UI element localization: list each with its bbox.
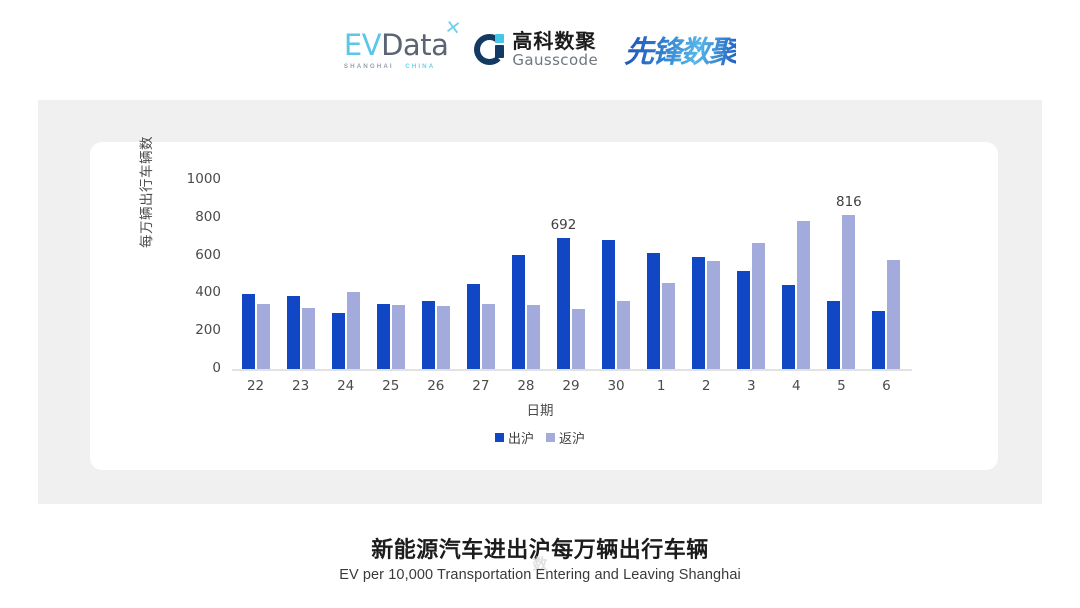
bar-back bbox=[617, 301, 630, 369]
bar-back bbox=[797, 221, 810, 369]
bar-group bbox=[684, 180, 729, 369]
x-axis-tick-label: 27 bbox=[459, 378, 503, 394]
x-axis-tick-label: 2 bbox=[684, 378, 728, 394]
bar-back bbox=[707, 261, 720, 369]
x-axis-tick-label: 30 bbox=[594, 378, 638, 394]
bar-group bbox=[278, 180, 323, 369]
bar-out bbox=[602, 240, 615, 369]
bar-back bbox=[437, 306, 450, 369]
y-axis-title: 每万辆出行车辆数 bbox=[135, 127, 155, 257]
legend-item[interactable]: 返沪 bbox=[546, 428, 585, 447]
legend-item[interactable]: 出沪 bbox=[495, 428, 534, 447]
x-axis-tick-label: 29 bbox=[549, 378, 593, 394]
bar-out bbox=[242, 294, 255, 369]
x-axis-tick-label: 24 bbox=[324, 378, 368, 394]
bar-group bbox=[864, 180, 909, 369]
x-axis-tick-label: 22 bbox=[234, 378, 278, 394]
y-axis-tick-label: 1000 bbox=[175, 171, 221, 187]
bar-group bbox=[323, 180, 368, 369]
bar-back bbox=[662, 283, 675, 369]
bar-group: 816 bbox=[819, 180, 864, 369]
bar-out bbox=[332, 313, 345, 369]
bar-back bbox=[887, 260, 900, 369]
bar-group bbox=[503, 180, 548, 369]
bar-out bbox=[422, 301, 435, 369]
y-axis-tick-label: 800 bbox=[175, 209, 221, 225]
bar-out bbox=[647, 253, 660, 369]
bar-out bbox=[827, 301, 840, 369]
bar-back bbox=[392, 305, 405, 369]
bar-group bbox=[413, 180, 458, 369]
legend-label: 出沪 bbox=[508, 428, 534, 447]
bar-group: 692 bbox=[548, 180, 593, 369]
bar-value-label: 692 bbox=[551, 217, 577, 233]
bar-back bbox=[752, 243, 765, 369]
bar-out bbox=[467, 284, 480, 369]
x-axis-tick-label: 5 bbox=[819, 378, 863, 394]
bar-value-label: 816 bbox=[836, 194, 862, 210]
y-axis-tick-label: 600 bbox=[175, 247, 221, 263]
bar-chart: 每万辆出行车辆数 02004006008001000 692816 222324… bbox=[0, 0, 1080, 608]
bar-back bbox=[302, 308, 315, 369]
bar-group bbox=[639, 180, 684, 369]
y-axis-tick-label: 200 bbox=[175, 322, 221, 338]
bar-back bbox=[527, 305, 540, 369]
bar-group bbox=[774, 180, 819, 369]
x-axis-title: 日期 bbox=[0, 399, 1080, 419]
bar-out bbox=[287, 296, 300, 369]
bar-group bbox=[594, 180, 639, 369]
bar-group bbox=[729, 180, 774, 369]
bar-back bbox=[572, 309, 585, 369]
bar-out bbox=[737, 271, 750, 369]
bar-group bbox=[458, 180, 503, 369]
legend-swatch-icon bbox=[546, 433, 555, 442]
bar-out bbox=[377, 304, 390, 369]
x-axis-tick-label: 28 bbox=[504, 378, 548, 394]
page-subtitle: EV per 10,000 Transportation Entering an… bbox=[0, 567, 1080, 583]
x-axis-tick-label: 25 bbox=[369, 378, 413, 394]
bar-out bbox=[872, 311, 885, 369]
y-axis-tick-label: 400 bbox=[175, 284, 221, 300]
plot-area: 692816 bbox=[233, 180, 909, 369]
x-axis-tick-label: 26 bbox=[414, 378, 458, 394]
bar-out: 692 bbox=[557, 238, 570, 369]
bar-out bbox=[512, 255, 525, 369]
x-axis-tick-label: 6 bbox=[864, 378, 908, 394]
bar-group bbox=[233, 180, 278, 369]
legend-label: 返沪 bbox=[559, 428, 585, 447]
chart-legend: 出沪返沪 bbox=[0, 428, 1080, 447]
legend-swatch-icon bbox=[495, 433, 504, 442]
bar-back bbox=[482, 304, 495, 369]
bar-out bbox=[782, 285, 795, 369]
bar-back: 816 bbox=[842, 215, 855, 369]
x-axis-line bbox=[232, 369, 912, 371]
x-axis-tick-label: 23 bbox=[279, 378, 323, 394]
x-axis-tick-label: 1 bbox=[639, 378, 683, 394]
x-axis-tick-label: 3 bbox=[729, 378, 773, 394]
bar-group bbox=[368, 180, 413, 369]
bar-back bbox=[347, 292, 360, 369]
x-axis-tick-label: 4 bbox=[774, 378, 818, 394]
slide-root: EV Data ✕ SHANGHAI CHINA 高科数聚 Gausscode bbox=[0, 0, 1080, 608]
bar-out bbox=[692, 257, 705, 369]
bar-back bbox=[257, 304, 270, 369]
y-axis-tick-label: 0 bbox=[175, 360, 221, 376]
